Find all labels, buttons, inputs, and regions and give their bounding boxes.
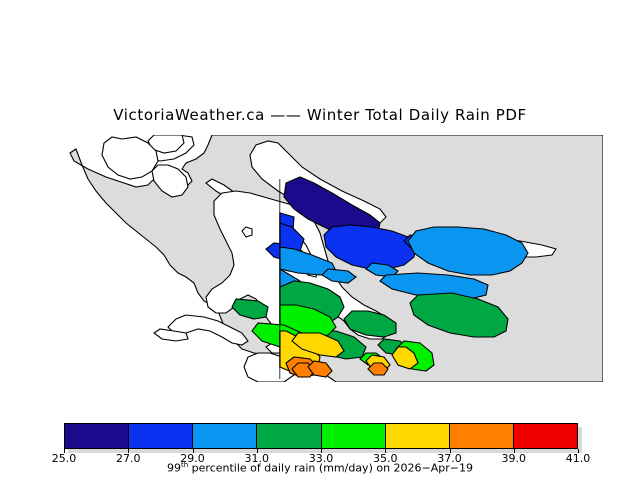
colorbar[interactable] (64, 423, 578, 449)
map-canvas[interactable] (36, 135, 603, 382)
weather-map-figure: VictoriaWeather.ca —— Winter Total Daily… (0, 0, 640, 480)
colorbar-segment-5[interactable] (386, 424, 450, 448)
figure-title: VictoriaWeather.ca —— Winter Total Daily… (0, 106, 640, 124)
colorbar-segment-7[interactable] (514, 424, 577, 448)
colorbar-segment-1[interactable] (129, 424, 193, 448)
colorbar-segment-3[interactable] (257, 424, 321, 448)
colorbar-bar[interactable] (64, 423, 578, 449)
colorbar-segment-0[interactable] (65, 424, 129, 448)
colorbar-segment-6[interactable] (450, 424, 514, 448)
map-svg (36, 135, 603, 382)
colorbar-caption: 99th percentile of daily rain (mm/day) o… (0, 461, 640, 475)
data-domain-left-edge (279, 179, 280, 379)
colorbar-segment-2[interactable] (193, 424, 257, 448)
colorbar-segment-4[interactable] (322, 424, 386, 448)
caption-prefix: 99 (167, 462, 181, 475)
caption-rest: percentile of daily rain (mm/day) on 202… (188, 462, 473, 475)
